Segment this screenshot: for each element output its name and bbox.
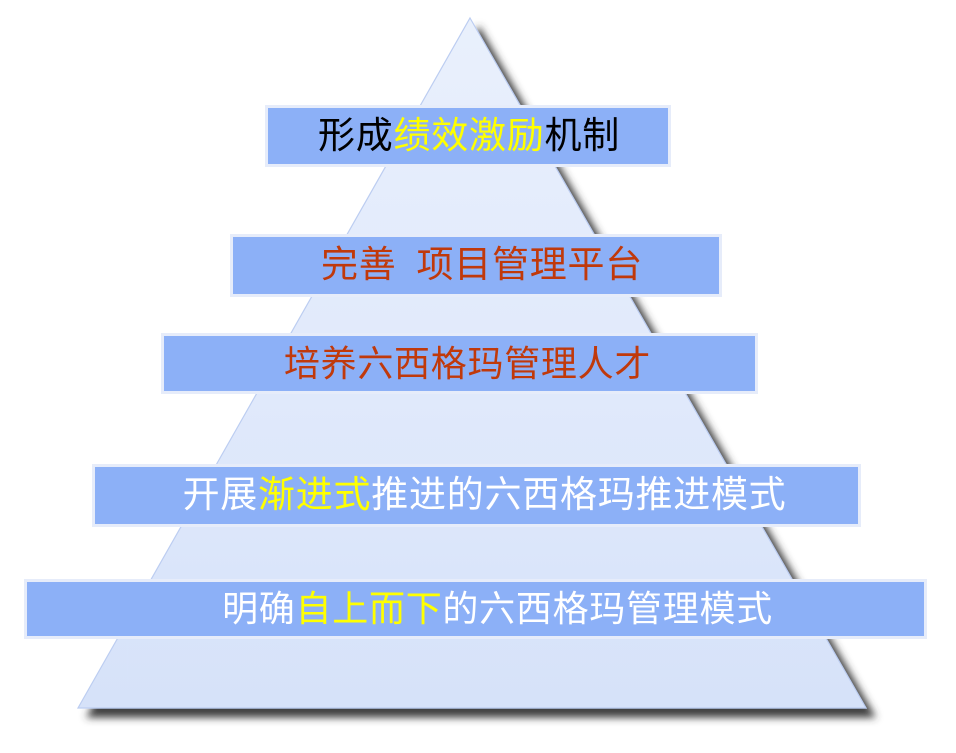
band-text-level-3: 培养六西格玛管理人才: [284, 346, 651, 382]
pyramid-band-level-4[interactable]: 完善 项目管理平台: [233, 237, 719, 294]
band-2-segment-3: 推进的六西格玛推进模式: [371, 477, 786, 514]
pyramid-band-level-5[interactable]: 形成绩效激励机制: [268, 108, 668, 164]
band-1-segment-1: 明确: [222, 591, 295, 627]
pyramid-band-level-3[interactable]: 培养六西格玛管理人才: [164, 336, 755, 391]
pyramid-band-level-2[interactable]: 开展渐进式推进的六西格玛推进模式: [95, 467, 858, 524]
pyramid-band-level-1[interactable]: 明确自上而下的六西格玛管理模式: [27, 582, 924, 636]
band-1-segment-2-highlight: 自上而下: [296, 591, 443, 627]
band-3-segment-1: 培养六西格玛管理人才: [284, 346, 651, 382]
band-text-level-5: 形成绩效激励机制: [318, 118, 620, 155]
slide-canvas: 形成绩效激励机制 完善 项目管理平台 培养六西格玛管理人才 开展渐进式推进的六西…: [0, 0, 956, 748]
band-text-level-4: 完善 项目管理平台: [321, 247, 643, 284]
band-5-segment-2-highlight: 绩效激励: [394, 118, 545, 155]
band-text-level-1: 明确自上而下的六西格玛管理模式: [222, 591, 773, 627]
band-2-segment-1: 开展: [183, 477, 258, 514]
band-text-level-2: 开展渐进式推进的六西格玛推进模式: [183, 477, 787, 514]
band-2-segment-2-highlight: 渐进式: [258, 477, 371, 514]
band-1-segment-3: 的六西格玛管理模式: [442, 591, 772, 627]
band-5-segment-3: 机制: [544, 118, 619, 155]
band-5-segment-1: 形成: [318, 118, 393, 155]
band-4-segment-1: 完善 项目管理平台: [321, 247, 643, 284]
